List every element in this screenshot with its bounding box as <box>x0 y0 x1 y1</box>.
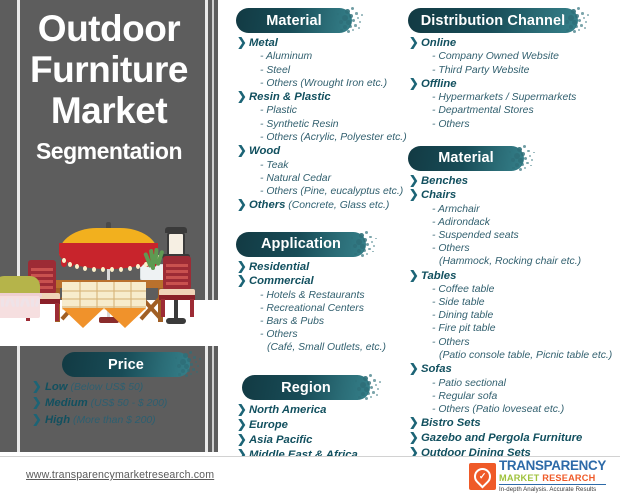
group-child-item[interactable]: - Others (Pine, eucalyptus etc.) <box>236 185 406 198</box>
group-child-item[interactable]: - Synthetic Resin <box>236 118 406 131</box>
chevron-right-icon: ❯ <box>409 78 419 91</box>
chevron-right-icon: ❯ <box>237 37 247 50</box>
group-label: Metal <box>249 37 278 49</box>
dots-decoration <box>345 227 379 261</box>
group-heading[interactable]: ❯Offline <box>408 78 620 91</box>
chevron-right-icon: ❯ <box>237 404 247 417</box>
dots-decoration <box>349 370 383 404</box>
group-child-item[interactable]: - Third Party Website <box>408 64 620 77</box>
group-child-item[interactable]: - Departmental Stores <box>408 104 620 117</box>
group-label: Benches <box>421 175 468 187</box>
string-light-icon <box>83 266 87 271</box>
logo-line-2-market: MARKET <box>499 473 540 483</box>
tablecloth-drape-left <box>62 308 104 328</box>
logo-line-1: TRANSPARENCY <box>499 459 606 472</box>
group-label: High <box>45 414 70 426</box>
planter-flower-icon <box>16 298 19 307</box>
group-child-item[interactable]: - Teak <box>236 159 406 172</box>
chevron-right-icon: ❯ <box>237 261 247 274</box>
string-light-icon <box>75 264 79 269</box>
card-heading-application-label: Application <box>261 236 341 252</box>
patio-furniture-illustration <box>0 214 218 346</box>
page-title: Outdoor Furniture Market Segmentation <box>0 8 218 163</box>
card-heading-material-2-label: Material <box>438 150 494 166</box>
chevron-right-icon: ❯ <box>409 37 419 50</box>
group-child-continuation: (Patio console table, Picnic table etc.) <box>408 349 620 362</box>
card-material-2: Material ❯Benches❯Chairs- Armchair- Adir… <box>408 146 620 488</box>
group-child-item[interactable]: - Coffee table <box>408 283 620 296</box>
card-heading-region: Region <box>242 375 370 400</box>
card-heading-region-label: Region <box>281 380 331 396</box>
column-right: Distribution Channel ❯Online- Company Ow… <box>408 0 620 488</box>
chevron-right-icon: ❯ <box>409 189 419 202</box>
lamp-base-icon <box>166 318 186 324</box>
group-child-item[interactable]: - Natural Cedar <box>236 172 406 185</box>
site-url-link[interactable]: www.transparencymarketresearch.com <box>26 469 214 481</box>
string-light-icon <box>128 266 132 271</box>
group-label: Bistro Sets <box>421 417 481 429</box>
group-list-material-1: ❯Metal- Aluminum- Steel- Others (Wrought… <box>236 37 406 213</box>
group-label: Chairs <box>421 189 456 201</box>
chevron-right-icon: ❯ <box>237 275 247 288</box>
group-child-item[interactable]: - Armchair <box>408 203 620 216</box>
plant-leaf-icon <box>151 254 155 270</box>
card-heading-material-2: Material <box>408 146 524 171</box>
chevron-right-icon: ❯ <box>237 199 247 212</box>
group-heading[interactable]: ❯Medium (US$ 50 - $ 200) <box>28 397 228 410</box>
card-heading-application: Application <box>236 232 366 257</box>
group-child-item[interactable]: - Fire pit table <box>408 322 620 335</box>
logo-line-2-research: RESEARCH <box>542 473 595 483</box>
planter-flower-icon <box>1 298 4 307</box>
group-child-item[interactable]: - Company Owned Website <box>408 50 620 63</box>
group-heading[interactable]: ❯Low (Below US$ 50) <box>28 381 228 394</box>
lamp-head-icon <box>167 232 185 256</box>
group-label: Europe <box>249 419 288 431</box>
string-light-icon <box>101 267 105 272</box>
string-light-icon <box>136 264 140 269</box>
group-heading[interactable]: ❯Sofas <box>408 363 620 376</box>
checkmark-logo-icon: ✓ <box>469 463 496 490</box>
group-heading[interactable]: ❯Tables <box>408 270 620 283</box>
chevron-right-icon: ❯ <box>409 363 419 376</box>
card-heading-material-1: Material <box>236 8 352 33</box>
group-child-item[interactable]: - Others <box>408 118 620 131</box>
title-line-3: Market <box>0 90 218 131</box>
group-child-item[interactable]: - Bars & Pubs <box>236 315 406 328</box>
chevron-right-icon: ❯ <box>409 270 419 283</box>
group-child-item[interactable]: - Hotels & Restaurants <box>236 289 406 302</box>
lamp-cap-icon <box>165 227 187 233</box>
group-label: Commercial <box>249 275 314 287</box>
dots-decoration <box>503 141 537 175</box>
group-label: Gazebo and Pergola Furniture <box>421 432 582 444</box>
card-distribution-channel: Distribution Channel ❯Online- Company Ow… <box>408 8 620 131</box>
group-heading[interactable]: ❯Asia Pacific <box>236 434 406 447</box>
group-child-item[interactable]: - Suspended seats <box>408 229 620 242</box>
planter-flower-icon <box>31 298 34 307</box>
group-list-distribution-channel: ❯Online- Company Owned Website- Third Pa… <box>408 37 620 131</box>
group-label: Offline <box>421 78 457 90</box>
dots-decoration <box>169 347 203 381</box>
group-child-item[interactable]: - Recreational Centers <box>236 302 406 315</box>
group-child-item[interactable]: - Others <box>408 336 620 349</box>
footer: www.transparencymarketresearch.com ✓ TRA… <box>0 457 620 494</box>
chair-right-icon <box>163 256 197 312</box>
logo-tagline: In-depth Analysis. Accurate Results <box>499 487 606 493</box>
chevron-right-icon: ❯ <box>409 417 419 430</box>
chevron-right-icon: ❯ <box>237 91 247 104</box>
chevron-right-icon: ❯ <box>237 434 247 447</box>
group-heading[interactable]: ❯Benches <box>408 175 620 188</box>
group-child-item[interactable]: - Adirondack <box>408 216 620 229</box>
group-heading[interactable]: ❯Bistro Sets <box>408 417 620 430</box>
group-heading[interactable]: ❯Others (Concrete, Glass etc.) <box>236 199 406 212</box>
group-child-item[interactable]: - Patio sectional <box>408 377 620 390</box>
tablecloth-icon <box>62 282 146 310</box>
group-child-continuation: (Café, Small Outlets, etc.) <box>236 341 406 354</box>
group-child-item[interactable]: - Others <box>408 242 620 255</box>
group-child-item[interactable]: - Hypermarkets / Supermarkets <box>408 91 620 104</box>
group-sublabel: (More than $ 200) <box>70 415 155 426</box>
group-heading[interactable]: ❯Commercial <box>236 275 406 288</box>
group-heading[interactable]: ❯Residential <box>236 261 406 274</box>
chevron-right-icon: ❯ <box>32 381 42 394</box>
group-child-item[interactable]: - Others (Wrought Iron etc.) <box>236 77 406 90</box>
group-list-price: ❯Low (Below US$ 50)❯Medium (US$ 50 - $ 2… <box>28 381 228 427</box>
group-heading[interactable]: ❯Gazebo and Pergola Furniture <box>408 432 620 445</box>
card-heading-price: Price <box>62 352 190 377</box>
tablecloth-drape-right <box>104 308 146 328</box>
group-child-continuation: (Hammock, Rocking chair etc.) <box>408 255 620 268</box>
group-child-item[interactable]: - Aluminum <box>236 50 406 63</box>
group-label: Resin & Plastic <box>249 91 331 103</box>
group-label: Others <box>249 199 285 211</box>
group-label: North America <box>249 404 326 416</box>
chevron-right-icon: ❯ <box>237 419 247 432</box>
group-list-application: ❯Residential❯Commercial- Hotels & Restau… <box>236 261 406 355</box>
group-heading[interactable]: ❯Wood <box>236 145 406 158</box>
group-label: Low <box>45 381 68 393</box>
group-sublabel: (Below US$ 50) <box>68 382 144 393</box>
group-heading[interactable]: ❯High (More than $ 200) <box>28 414 228 427</box>
group-label: Residential <box>249 261 309 273</box>
group-sublabel: (Concrete, Glass etc.) <box>285 200 389 211</box>
title-line-2: Furniture <box>0 49 218 90</box>
string-light-icon <box>92 267 96 272</box>
group-child-item[interactable]: - Others (Patio loveseat etc.) <box>408 403 620 416</box>
title-line-1: Outdoor <box>0 8 218 49</box>
group-child-item[interactable]: - Plastic <box>236 104 406 117</box>
group-heading[interactable]: ❯Chairs <box>408 189 620 202</box>
chevron-right-icon: ❯ <box>237 145 247 158</box>
card-price: Price ❯Low (Below US$ 50)❯Medium (US$ 50… <box>28 352 228 427</box>
group-heading[interactable]: ❯Resin & Plastic <box>236 91 406 104</box>
string-light-icon <box>110 267 114 272</box>
group-child-item[interactable]: - Others (Acrylic, Polyester etc.) <box>236 131 406 144</box>
group-child-item[interactable]: - Dining table <box>408 309 620 322</box>
card-application: Application ❯Residential❯Commercial- Hot… <box>236 232 406 355</box>
string-light-icon <box>119 267 123 272</box>
logo-rule <box>499 484 606 485</box>
group-child-item[interactable]: - Side table <box>408 296 620 309</box>
group-heading[interactable]: ❯Online <box>408 37 620 50</box>
checkmark-glyph: ✓ <box>479 471 487 482</box>
group-heading[interactable]: ❯Metal <box>236 37 406 50</box>
card-heading-distribution-channel-label: Distribution Channel <box>421 13 566 29</box>
group-sublabel: (US$ 50 - $ 200) <box>88 398 168 409</box>
string-light-icon <box>68 262 72 267</box>
chevron-right-icon: ❯ <box>32 414 42 427</box>
string-light-icon <box>62 258 66 263</box>
card-heading-price-label: Price <box>108 357 144 373</box>
group-heading[interactable]: ❯Europe <box>236 419 406 432</box>
card-heading-distribution-channel: Distribution Channel <box>408 8 578 33</box>
group-label: Wood <box>249 145 280 157</box>
company-logo: ✓ TRANSPARENCY MARKET RESEARCH In-depth … <box>469 460 614 492</box>
chevron-right-icon: ❯ <box>409 432 419 445</box>
group-label: Medium <box>45 397 88 409</box>
chevron-right-icon: ❯ <box>409 175 419 188</box>
dots-decoration <box>331 3 365 37</box>
card-heading-material-1-label: Material <box>266 13 322 29</box>
group-heading[interactable]: ❯North America <box>236 404 406 417</box>
group-child-item[interactable]: - Steel <box>236 64 406 77</box>
chevron-right-icon: ❯ <box>32 397 42 410</box>
title-line-4: Segmentation <box>0 131 218 163</box>
group-list-material-2: ❯Benches❯Chairs- Armchair- Adirondack- S… <box>408 175 620 488</box>
card-material-1: Material ❯Metal- Aluminum- Steel- Others… <box>236 8 406 213</box>
group-label: Sofas <box>421 363 452 375</box>
group-label: Online <box>421 37 456 49</box>
group-child-item[interactable]: - Others <box>236 328 406 341</box>
group-label: Tables <box>421 270 456 282</box>
column-middle: Material ❯Metal- Aluminum- Steel- Others… <box>236 0 406 477</box>
group-child-item[interactable]: - Regular sofa <box>408 390 620 403</box>
group-label: Asia Pacific <box>249 434 312 446</box>
